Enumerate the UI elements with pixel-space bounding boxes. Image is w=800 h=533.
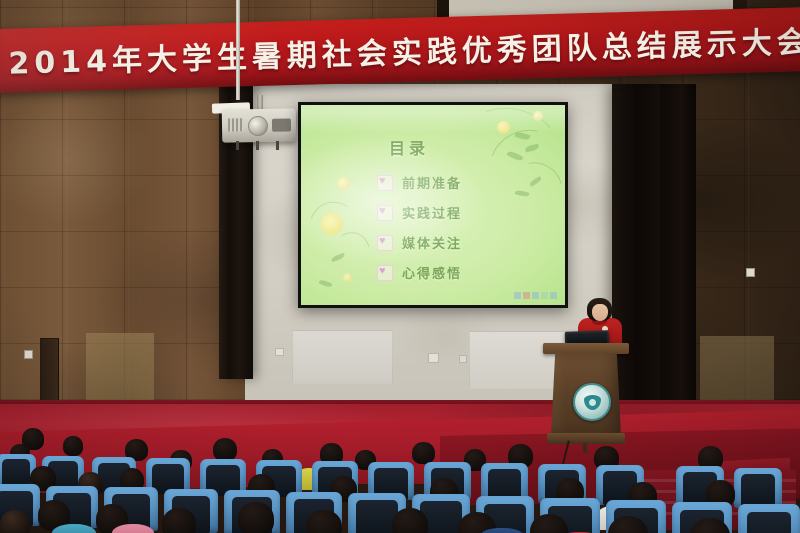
audience-area bbox=[0, 424, 800, 533]
flower-icon bbox=[321, 213, 343, 235]
projector-panel bbox=[272, 118, 291, 131]
wall-outlet-2 bbox=[428, 353, 439, 363]
footer-mark bbox=[541, 292, 548, 299]
footer-mark bbox=[532, 292, 539, 299]
projector-leg-3 bbox=[276, 141, 279, 150]
audience-head bbox=[162, 508, 196, 533]
slide-footer-marks bbox=[514, 292, 557, 299]
wall-switch-left bbox=[24, 350, 33, 359]
auditorium-scene: 2014年大学生暑期社会实践优秀团队总结展示大会 bbox=[0, 0, 800, 533]
flower-icon bbox=[497, 121, 510, 134]
slide-item-label: 媒体关注 bbox=[402, 233, 462, 252]
slide-title: 目录 bbox=[389, 135, 429, 159]
projector-leg-1 bbox=[236, 141, 239, 150]
audience-head bbox=[392, 508, 428, 533]
seat[interactable] bbox=[734, 468, 782, 508]
projector-icon bbox=[222, 108, 297, 142]
podium-top-surface bbox=[543, 343, 629, 354]
slide-contents-list: 前期准备 实践过程 媒体关注 心得感悟 bbox=[377, 173, 462, 282]
audience-head bbox=[63, 436, 83, 456]
heart-icon bbox=[377, 205, 393, 221]
list-item: 前期准备 bbox=[377, 173, 462, 192]
stage-wall-panel-left bbox=[292, 330, 393, 384]
projector-vent bbox=[228, 118, 243, 131]
stage-curtain-right-outer bbox=[660, 84, 696, 444]
audience-head bbox=[213, 438, 237, 461]
projector-lens bbox=[248, 116, 268, 136]
banner-title: 2014年大学生暑期社会实践优秀团队总结展示大会 bbox=[8, 17, 800, 83]
footer-mark bbox=[523, 292, 530, 299]
wall-outlet-1 bbox=[275, 348, 284, 356]
flower-icon bbox=[533, 111, 543, 121]
seat[interactable] bbox=[738, 504, 800, 533]
flower-icon bbox=[343, 273, 352, 282]
side-door bbox=[40, 338, 59, 402]
seat-cushion bbox=[747, 512, 792, 533]
footer-mark bbox=[514, 292, 521, 299]
slide-item-label: 心得感悟 bbox=[402, 263, 462, 282]
wall-light-panel-right bbox=[700, 336, 774, 406]
projector-leg-2 bbox=[256, 141, 259, 150]
wall-outlet-3 bbox=[459, 355, 467, 363]
slide-surface: 目录 前期准备 实践过程 媒体关注 心得感悟 bbox=[301, 105, 565, 305]
seat-cushion bbox=[741, 474, 776, 508]
slide-item-label: 实践过程 bbox=[402, 203, 462, 222]
audience-head bbox=[412, 442, 435, 464]
audience-head bbox=[0, 510, 30, 533]
heart-icon bbox=[377, 235, 393, 251]
list-item: 媒体关注 bbox=[377, 233, 462, 252]
projection-screen: 目录 前期准备 实践过程 媒体关注 心得感悟 bbox=[298, 102, 568, 308]
list-item: 实践过程 bbox=[377, 203, 462, 222]
heart-icon bbox=[377, 175, 393, 191]
list-item: 心得感悟 bbox=[377, 263, 462, 282]
flower-icon bbox=[337, 177, 350, 190]
support-pole bbox=[236, 0, 240, 100]
emblem-shield-icon bbox=[584, 395, 601, 410]
presenter-face bbox=[592, 304, 608, 321]
university-emblem-icon bbox=[573, 383, 611, 421]
footer-mark bbox=[550, 292, 557, 299]
heart-icon bbox=[377, 265, 393, 281]
wall-light-panel-left bbox=[86, 333, 154, 403]
podium-body bbox=[551, 353, 621, 435]
audience-head bbox=[238, 502, 274, 533]
slide-item-label: 前期准备 bbox=[402, 173, 462, 192]
wall-switch-right bbox=[746, 268, 755, 277]
